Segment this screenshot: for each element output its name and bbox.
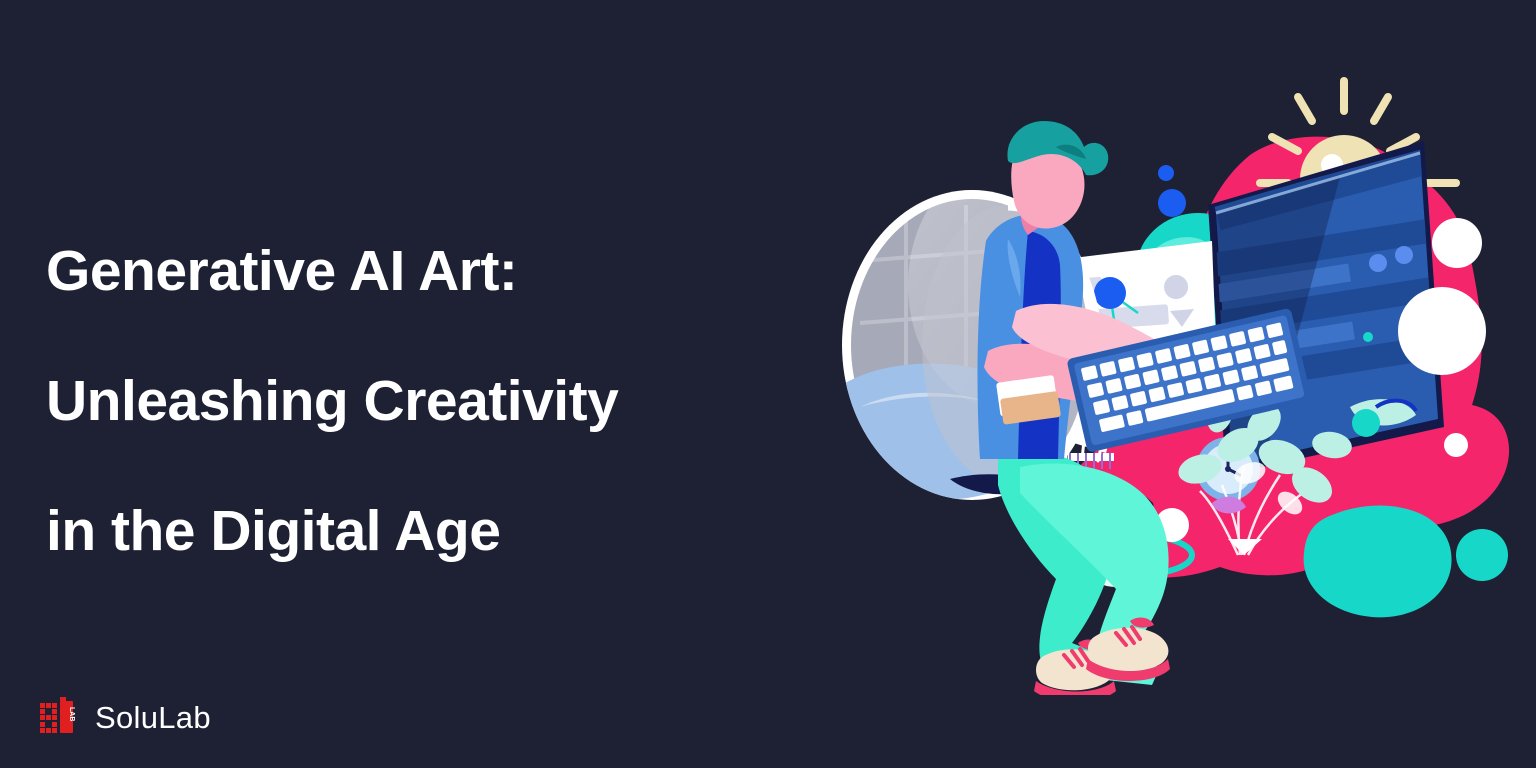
network-node bbox=[1158, 189, 1186, 217]
logo-mark-text: LAB bbox=[68, 707, 75, 721]
teal-blob bbox=[1304, 505, 1508, 617]
brand-name: SoluLab bbox=[95, 702, 211, 733]
folder-icon bbox=[996, 375, 1061, 425]
brand-logo[interactable]: LAB SoluLab bbox=[40, 697, 211, 737]
hero-illustration bbox=[820, 55, 1536, 695]
blog-banner: Generative AI Art: Unleashing Creativity… bbox=[0, 0, 1536, 768]
headline-line-2: Unleashing Creativity bbox=[46, 336, 866, 466]
network-node bbox=[1094, 277, 1126, 309]
solulab-mark-icon: LAB bbox=[40, 697, 82, 737]
headline-line-1: Generative AI Art: bbox=[46, 206, 866, 336]
network-node bbox=[1158, 165, 1174, 181]
page-title: Generative AI Art: Unleashing Creativity… bbox=[46, 206, 866, 596]
headline-line-3: in the Digital Age bbox=[46, 466, 866, 596]
teal-circle-accent bbox=[1456, 529, 1508, 581]
